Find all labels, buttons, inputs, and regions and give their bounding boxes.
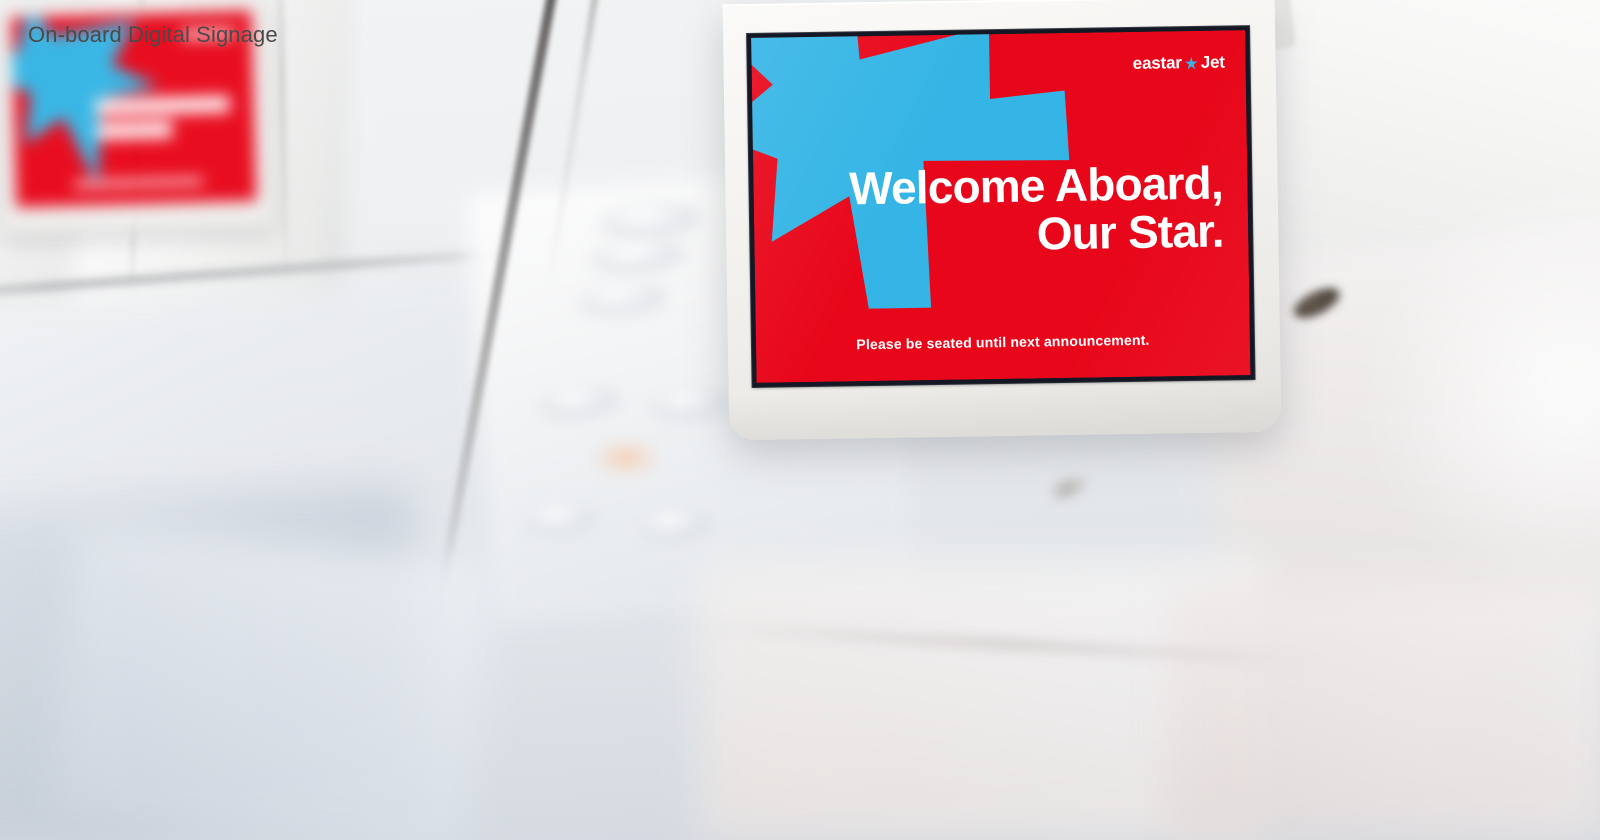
monitor-bezel: eastar Jet Welcome Aboard, Our Star. Ple…: [747, 26, 1254, 387]
brand-name-part2: Jet: [1201, 53, 1225, 73]
signage-headline: Welcome Aboard, Our Star.: [800, 158, 1224, 262]
star-icon: [1185, 57, 1198, 70]
eastar-jet-logo: eastar Jet: [1133, 53, 1225, 74]
background-headline-line2: [96, 121, 173, 140]
drop-down-monitor: eastar Jet Welcome Aboard, Our Star. Ple…: [723, 0, 1282, 440]
fasten-seatbelt-sign-icon: [600, 448, 652, 468]
page-caption: On-board Digital Signage: [28, 22, 278, 48]
signage-screen[interactable]: eastar Jet Welcome Aboard, Our Star. Ple…: [751, 30, 1250, 383]
brand-name-part1: eastar: [1133, 54, 1182, 75]
signage-mockup-scene: eastar Jet Welcome Aboard, Our Star. Ple…: [0, 0, 1600, 840]
background-headline-line1: [95, 95, 230, 116]
headline-line-2: Our Star.: [801, 207, 1224, 262]
cabin-lower-mass: [1170, 580, 1600, 840]
background-subline: [73, 177, 203, 188]
cabin-lower-mass: [45, 519, 494, 840]
